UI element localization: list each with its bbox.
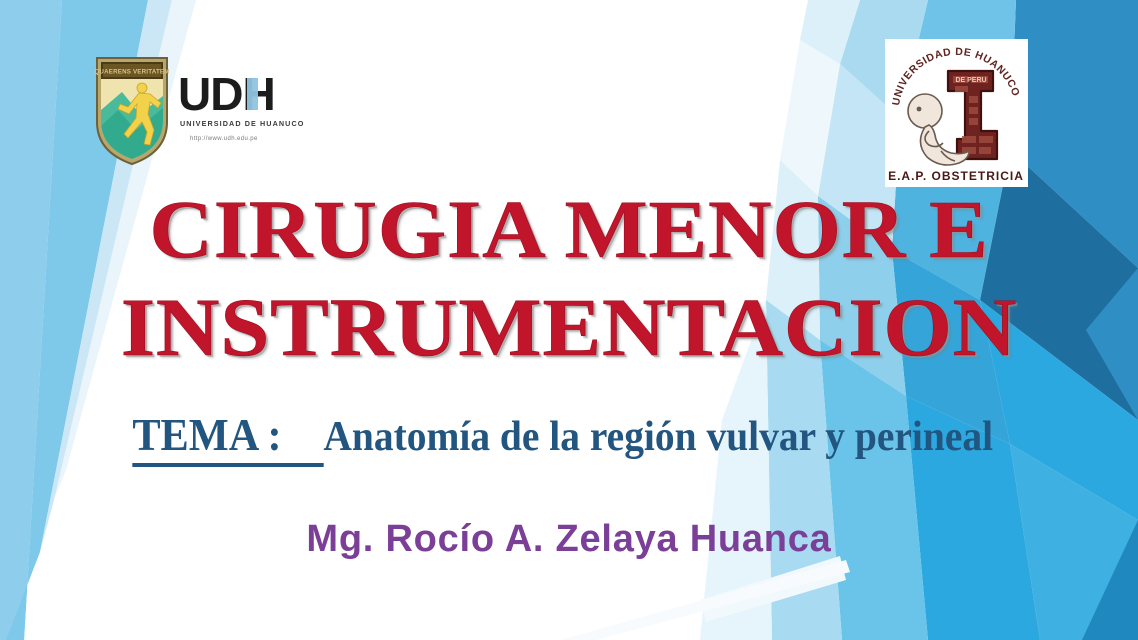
udh-shield-icon: QUAERENS VERITATEM — [94, 58, 169, 164]
emblem-inner-text: DE PERU — [955, 77, 986, 84]
udh-subtitle: UNIVERSIDAD DE HUANUCO — [180, 119, 304, 128]
presentation-slide: QUAERENS VERITATEM UDH UNIVERSIDAD DE HU… — [0, 0, 1138, 640]
udh-url: http://www.udh.edu.pe — [190, 136, 258, 142]
subtitle-label: TEMA : — [132, 408, 324, 467]
obstetricia-bottom-text: E.A.P. OBSTETRICIA — [888, 169, 1024, 183]
obstetricia-logo-graphic: UNIVERSIDAD DE HUANUCO D — [885, 39, 1028, 187]
slide-subtitle: TEMA :Anatomía de la región vulvar y per… — [0, 408, 1138, 467]
udh-wordmark: UDH — [178, 68, 275, 120]
svg-text:UDH: UDH — [178, 68, 275, 120]
author-name: Mg. Rocío A. Zelaya Huanca — [0, 518, 1138, 561]
udh-logo: QUAERENS VERITATEM UDH UNIVERSIDAD DE HU… — [92, 52, 307, 167]
subtitle-topic: Anatomía de la región vulvar y perineal — [323, 413, 993, 461]
udh-shield-motto: QUAERENS VERITATEM — [94, 69, 169, 76]
obstetricia-logo: UNIVERSIDAD DE HUANUCO D — [885, 39, 1028, 187]
udh-logo-graphic: QUAERENS VERITATEM UDH UNIVERSIDAD DE HU… — [92, 52, 307, 167]
